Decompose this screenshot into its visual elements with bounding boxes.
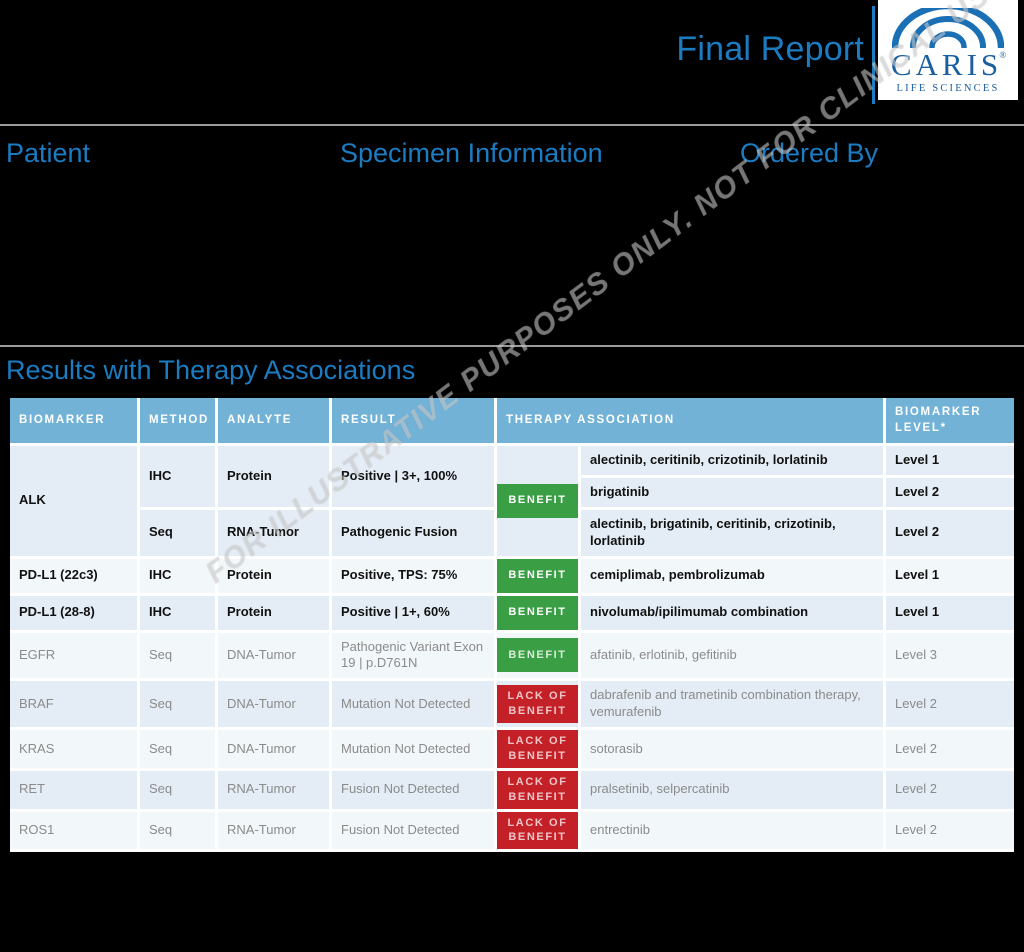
cell-method: IHC [140,559,218,596]
table-row[interactable]: PD-L1 (22c3) IHC Protein Positive, TPS: … [10,559,1014,596]
caris-logo: CARIS® LIFE SCIENCES [878,0,1018,100]
section-title-patient: Patient [6,138,90,169]
cell-therapy: dabrafenib and trametinib combination th… [581,681,886,730]
cell-association-badge: BENEFIT [497,633,581,682]
results-table-head: BIOMARKER METHOD ANALYTE RESULT THERAPY … [10,398,1014,446]
status-badge-benefit: BENEFIT [497,484,578,518]
cell-biomarker: EGFR [10,633,140,682]
cell-therapy: afatinib, erlotinib, gefitinib [581,633,886,682]
status-badge-benefit: BENEFIT [497,638,578,672]
status-badge-lack-of-benefit: LACK OF BENEFIT [497,685,578,723]
cell-biomarker-level: Level 2 [886,478,1014,510]
cell-method: Seq [140,681,218,730]
logo-divider [872,6,875,104]
cell-method: Seq [140,771,218,812]
cell-biomarker: KRAS [10,730,140,771]
column-header-biomarker: BIOMARKER [10,398,140,446]
cell-biomarker: PD-L1 (22c3) [10,559,140,596]
cell-biomarker-level: Level 2 [886,681,1014,730]
cell-analyte: RNA-Tumor [218,510,332,559]
table-row[interactable]: PD-L1 (28-8) IHC Protein Positive | 1+, … [10,596,1014,633]
results-table: BIOMARKER METHOD ANALYTE RESULT THERAPY … [10,398,1014,852]
cell-association-badge: BENEFIT [497,446,581,559]
column-header-result: RESULT [332,398,497,446]
cell-analyte: Protein [218,446,332,510]
results-section-heading: Results with Therapy Associations [6,355,415,386]
cell-association-badge: BENEFIT [497,559,581,596]
cell-result: Mutation Not Detected [332,681,497,730]
column-header-biomarker-level: BIOMARKER LEVEL* [886,398,1014,446]
cell-result: Mutation Not Detected [332,730,497,771]
cell-biomarker: PD-L1 (28-8) [10,596,140,633]
cell-association-badge: LACK OF BENEFIT [497,681,581,730]
cell-therapy: alectinib, ceritinib, crizotinib, lorlat… [581,446,886,478]
header-divider-rule [0,124,1024,126]
cell-biomarker: BRAF [10,681,140,730]
cell-biomarker: ROS1 [10,812,140,853]
logo-arcs-icon [892,8,1004,48]
cell-analyte: DNA-Tumor [218,681,332,730]
cell-association-badge: LACK OF BENEFIT [497,812,581,853]
cell-biomarker-level: Level 2 [886,510,1014,559]
cell-biomarker-level: Level 2 [886,771,1014,812]
section-title-specimen-information: Specimen Information [340,138,603,169]
cell-analyte: RNA-Tumor [218,771,332,812]
cell-analyte: DNA-Tumor [218,730,332,771]
cell-association-badge: LACK OF BENEFIT [497,730,581,771]
cell-analyte: DNA-Tumor [218,633,332,682]
cell-biomarker-level: Level 2 [886,812,1014,853]
cell-analyte: Protein [218,559,332,596]
cell-association-badge: LACK OF BENEFIT [497,771,581,812]
cell-therapy: brigatinib [581,478,886,510]
cell-result: Positive | 3+, 100% [332,446,497,510]
logo-subtitle: LIFE SCIENCES [897,84,1000,95]
cell-result: Positive | 1+, 60% [332,596,497,633]
table-row[interactable]: KRAS Seq DNA-Tumor Mutation Not Detected… [10,730,1014,771]
cell-therapy: entrectinib [581,812,886,853]
final-report-title: Final Report [676,30,864,69]
cell-result: Pathogenic Fusion [332,510,497,559]
cell-result: Positive, TPS: 75% [332,559,497,596]
logo-wordmark-text: CARIS [891,47,1002,82]
table-row[interactable]: RET Seq RNA-Tumor Fusion Not Detected LA… [10,771,1014,812]
cell-result: Fusion Not Detected [332,771,497,812]
cell-biomarker-level: Level 3 [886,633,1014,682]
table-row[interactable]: ROS1 Seq RNA-Tumor Fusion Not Detected L… [10,812,1014,853]
column-header-therapy-association: THERAPY ASSOCIATION [497,398,886,446]
cell-method: Seq [140,510,218,559]
cell-method: Seq [140,812,218,853]
cell-therapy: cemiplimab, pembrolizumab [581,559,886,596]
logo-registered-mark: ® [999,51,1010,60]
cell-therapy: nivolumab/ipilimumab combination [581,596,886,633]
cell-biomarker: RET [10,771,140,812]
column-header-method: METHOD [140,398,218,446]
results-divider-rule [0,345,1024,347]
cell-result: Fusion Not Detected [332,812,497,853]
cell-biomarker: ALK [10,446,140,559]
cell-therapy: alectinib, brigatinib, ceritinib, crizot… [581,510,886,559]
cell-biomarker-level: Level 1 [886,446,1014,478]
report-page: Final Report CARIS® LIFE SCIENCES Patien… [0,0,1024,952]
report-header: Final Report CARIS® LIFE SCIENCES [0,0,1024,118]
cell-biomarker-level: Level 1 [886,559,1014,596]
status-badge-lack-of-benefit: LACK OF BENEFIT [497,812,578,850]
table-header-row: BIOMARKER METHOD ANALYTE RESULT THERAPY … [10,398,1014,446]
cell-result: Pathogenic Variant Exon 19 | p.D761N [332,633,497,682]
cell-method: Seq [140,633,218,682]
cell-biomarker-level: Level 2 [886,730,1014,771]
table-row[interactable]: BRAF Seq DNA-Tumor Mutation Not Detected… [10,681,1014,730]
logo-wordmark: CARIS® [891,49,1005,80]
section-title-ordered-by: Ordered By [740,138,878,169]
cell-method: IHC [140,446,218,510]
table-row[interactable]: EGFR Seq DNA-Tumor Pathogenic Variant Ex… [10,633,1014,682]
status-badge-benefit: BENEFIT [497,596,578,630]
cell-method: Seq [140,730,218,771]
cell-association-badge: BENEFIT [497,596,581,633]
cell-therapy: sotorasib [581,730,886,771]
status-badge-lack-of-benefit: LACK OF BENEFIT [497,730,578,768]
table-row[interactable]: ALK IHC Protein Positive | 3+, 100% BENE… [10,446,1014,478]
status-badge-benefit: BENEFIT [497,559,578,593]
cell-therapy: pralsetinib, selpercatinib [581,771,886,812]
patient-info-row: Patient Specimen Information Ordered By [0,138,1024,178]
results-table-body: ALK IHC Protein Positive | 3+, 100% BENE… [10,446,1014,852]
cell-method: IHC [140,596,218,633]
cell-analyte: RNA-Tumor [218,812,332,853]
status-badge-lack-of-benefit: LACK OF BENEFIT [497,771,578,809]
cell-biomarker-level: Level 1 [886,596,1014,633]
column-header-analyte: ANALYTE [218,398,332,446]
cell-analyte: Protein [218,596,332,633]
